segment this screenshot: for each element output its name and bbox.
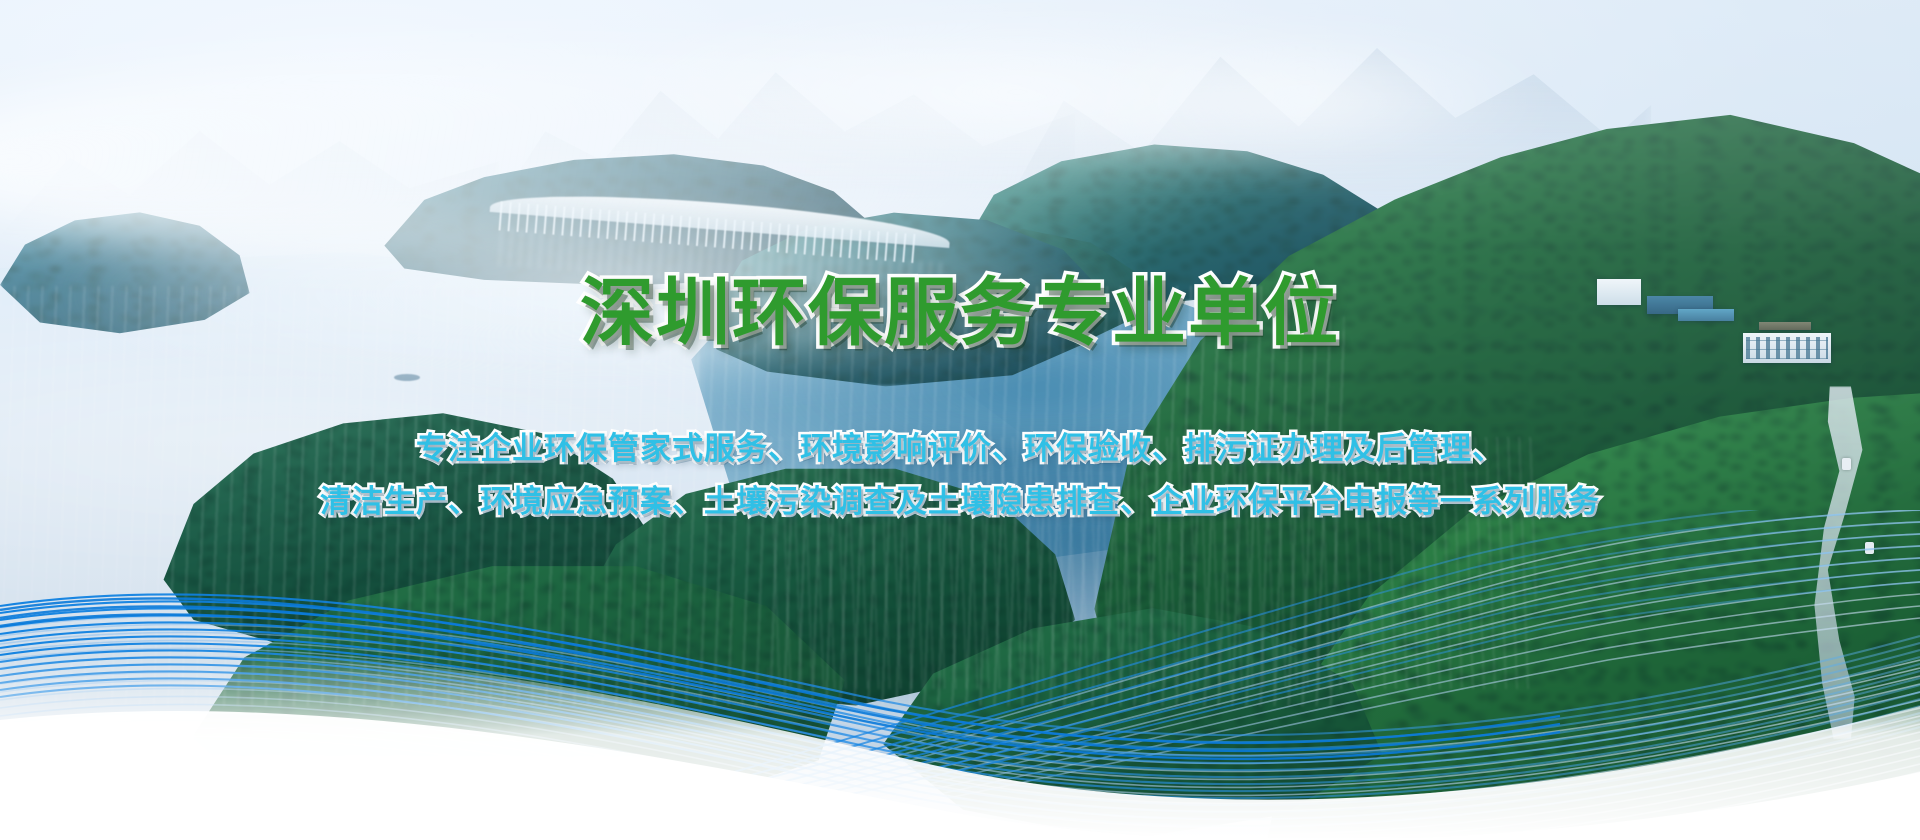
hero-banner: 深圳环保服务专业单位 专注企业环保管家式服务、环境影响评价、环保验收、排污证办理… <box>0 0 1920 840</box>
background-photo <box>0 0 1920 840</box>
banner-headline: 深圳环保服务专业单位 <box>0 276 1920 350</box>
water-shimmer-lower <box>768 437 1536 689</box>
mist-patch-right <box>1056 34 1555 168</box>
car-lower <box>1865 542 1874 554</box>
banner-subline-2: 清洁生产、环境应急预案、土壤污染调查及土壤隐患排查、企业环保平台申报等一系列服务 <box>0 487 1920 518</box>
banner-subline-1: 专注企业环保管家式服务、环境影响评价、环保验收、排污证办理及后管理、 <box>0 434 1920 465</box>
